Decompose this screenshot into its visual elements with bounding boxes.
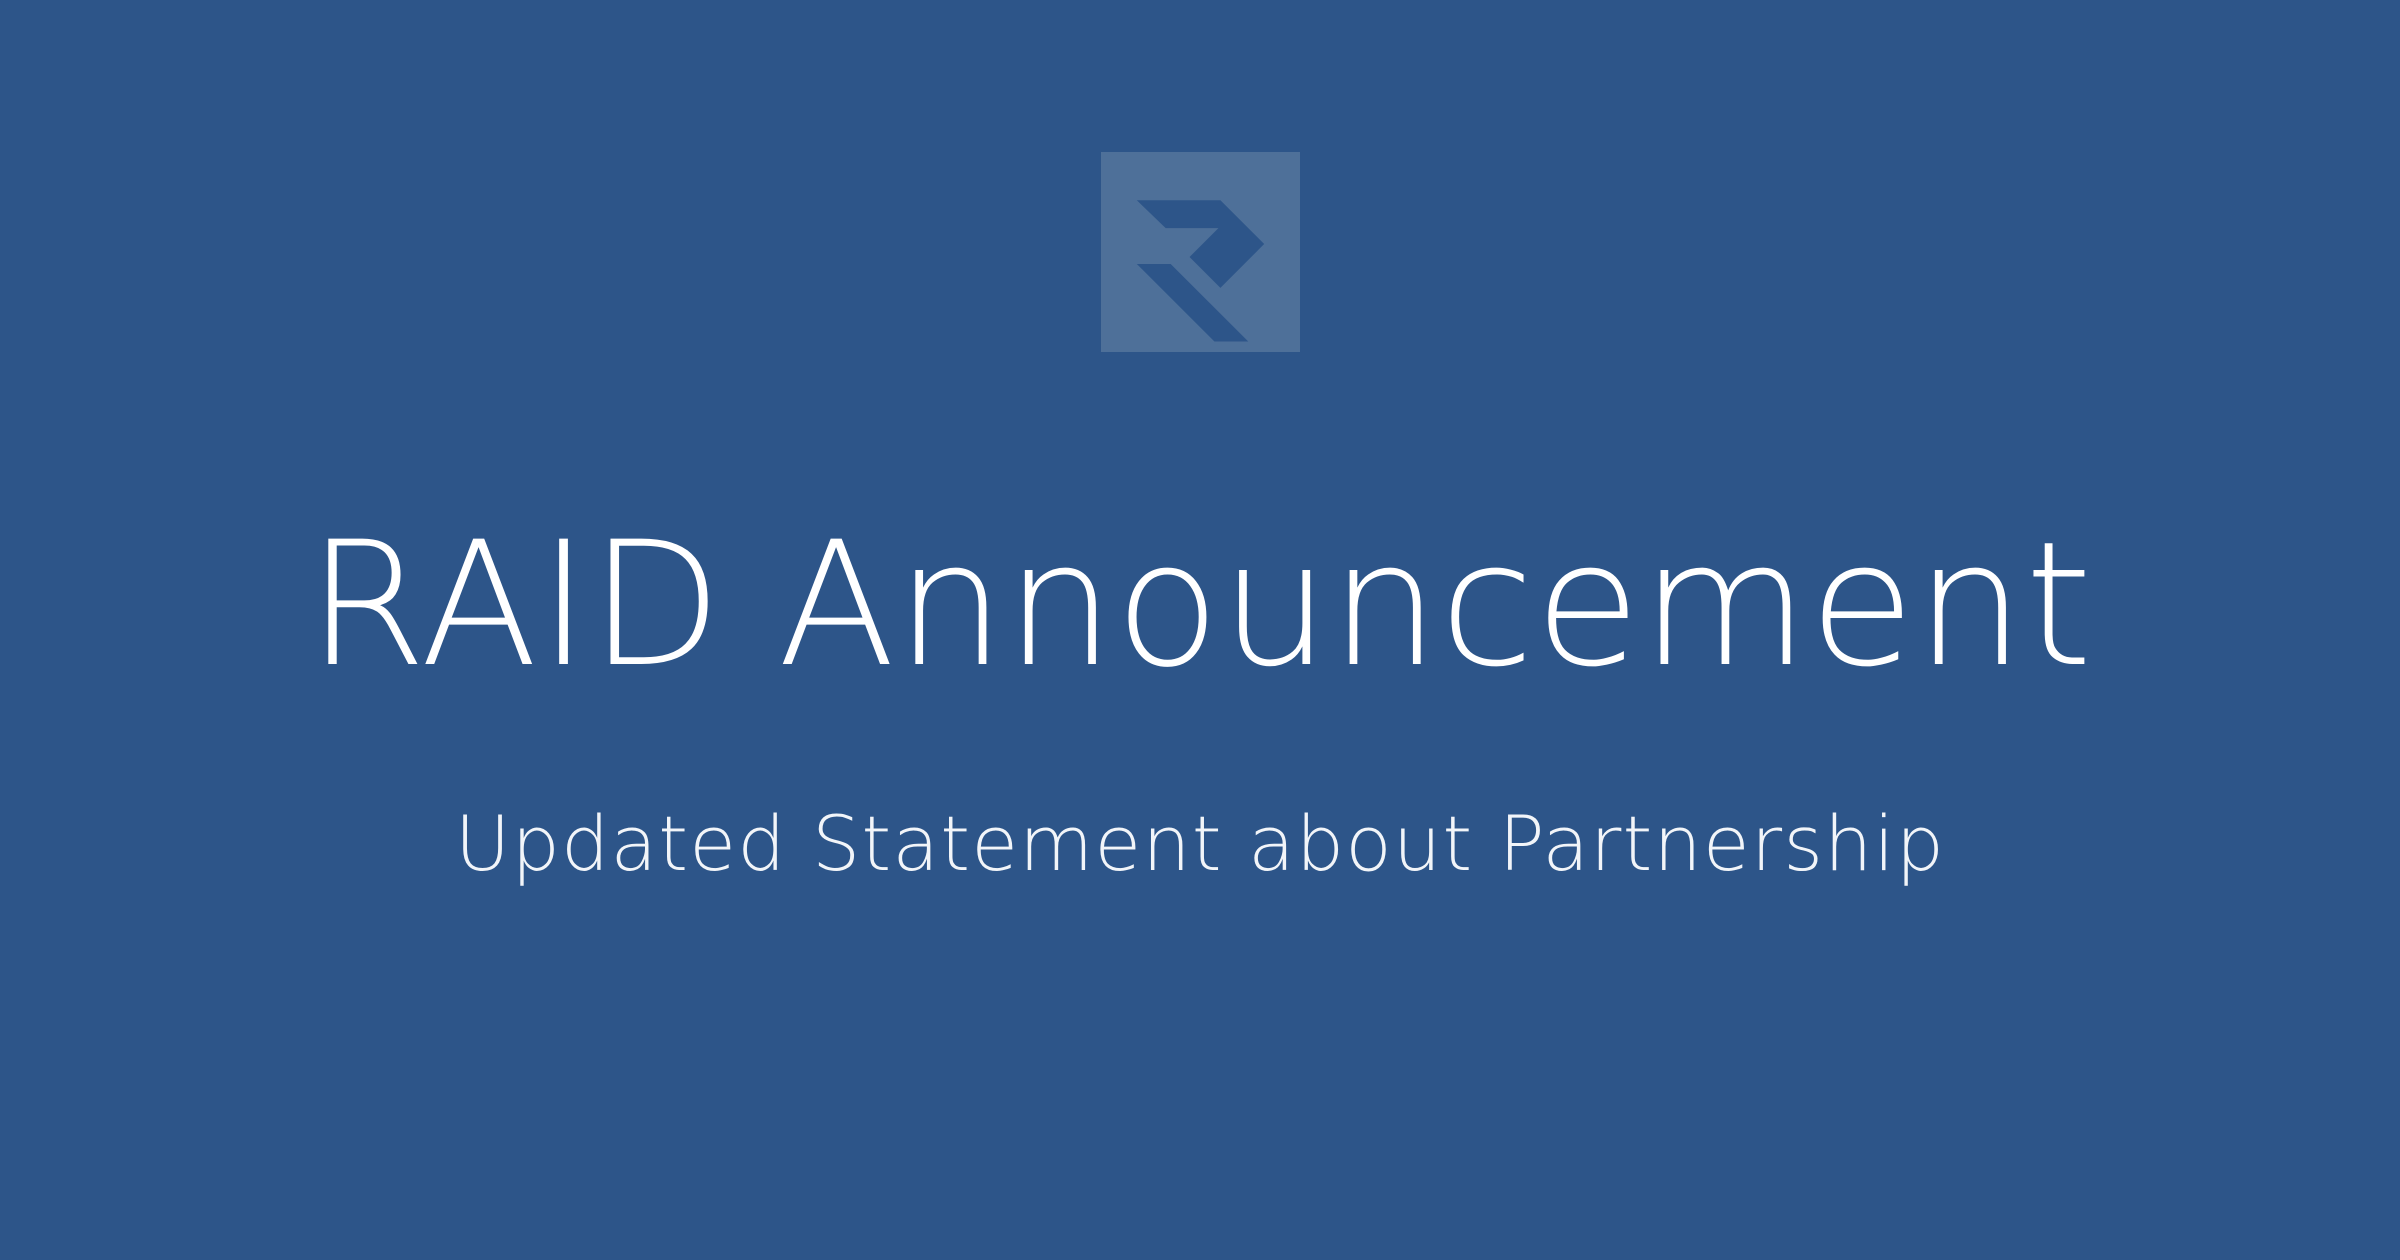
raid-r-mark-icon — [1101, 152, 1300, 352]
page-subtitle: Updated Statement about Partnership — [0, 806, 2400, 882]
announcement-card: RAID Announcement Updated Statement abou… — [0, 0, 2400, 1260]
raid-logo — [1101, 152, 1300, 352]
page-title: RAID Announcement — [0, 519, 2400, 691]
